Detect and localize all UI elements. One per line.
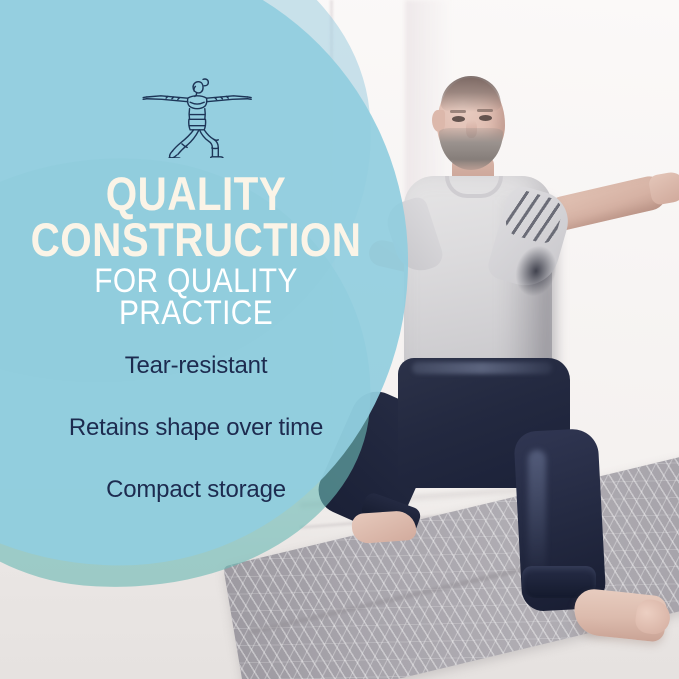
left-eye [452, 116, 465, 122]
waist-highlight [412, 362, 552, 374]
headline-line-2: CONSTRUCTION [27, 218, 364, 262]
list-item: Tear-resistant [125, 352, 268, 380]
list-item: Compact storage [106, 476, 286, 504]
right-hand [648, 170, 679, 206]
right-eye [479, 115, 492, 121]
yoga-warrior-pose-icon [137, 70, 255, 158]
feature-list: Tear-resistant Retains shape over time C… [0, 352, 392, 504]
headline-line-1: QUALITY [27, 172, 364, 216]
list-item: Retains shape over time [69, 414, 323, 442]
left-eyebrow [450, 110, 466, 113]
product-feature-poster: QUALITY CONSTRUCTION FOR QUALITY PRACTIC… [0, 0, 679, 679]
pant-highlight [528, 450, 546, 580]
text-panel: QUALITY CONSTRUCTION FOR QUALITY PRACTIC… [0, 0, 392, 679]
headline-subtitle: FOR QUALITY PRACTICE [24, 266, 369, 330]
right-eyebrow [477, 109, 493, 112]
front-toes [634, 598, 672, 636]
scalp [441, 76, 501, 112]
page-title: QUALITY CONSTRUCTION FOR QUALITY PRACTIC… [0, 172, 392, 330]
